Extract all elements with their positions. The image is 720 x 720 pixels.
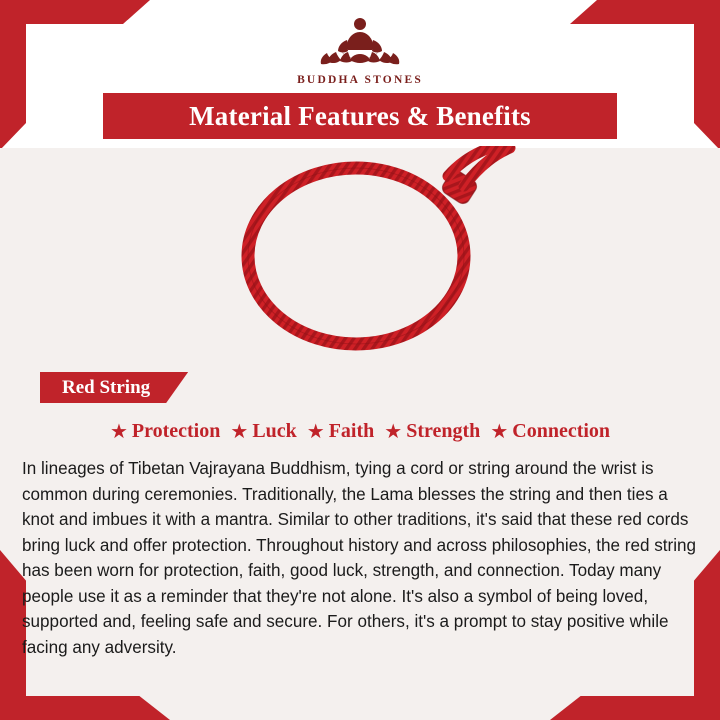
benefit-item-protection: ★ Protection (105, 420, 225, 443)
benefit-label: Faith (329, 420, 375, 443)
red-braided-string-bracelet-icon (196, 146, 526, 361)
product-image-area (0, 148, 720, 368)
benefit-item-strength: ★ Strength (379, 420, 485, 443)
benefit-item-faith: ★ Faith (302, 420, 380, 443)
star-icon: ★ (384, 422, 402, 442)
benefit-label: Strength (406, 420, 480, 443)
product-label-tab: Red String (40, 372, 188, 403)
product-label: Red String (62, 377, 150, 399)
infographic-page: BUDDHA STONES Material Features & Benefi… (0, 0, 720, 720)
page-title-banner: Material Features & Benefits (103, 93, 617, 139)
page-title: Material Features & Benefits (189, 101, 531, 132)
brand-logo: BUDDHA STONES (0, 14, 720, 86)
benefit-label: Protection (132, 420, 221, 443)
corner-decoration-bottom-right-bar (550, 696, 720, 720)
brand-name: BUDDHA STONES (0, 74, 720, 86)
lotus-meditation-icon (306, 14, 414, 72)
benefit-label: Luck (252, 420, 296, 443)
benefit-item-luck: ★ Luck (225, 420, 301, 443)
star-icon: ★ (307, 422, 325, 442)
description-text: In lineages of Tibetan Vajrayana Buddhis… (22, 456, 698, 660)
benefit-item-connection: ★ Connection (485, 420, 615, 443)
corner-decoration-bottom-left-bar (0, 696, 170, 720)
benefit-label: Connection (512, 420, 610, 443)
star-icon: ★ (230, 422, 248, 442)
star-icon: ★ (490, 422, 508, 442)
benefits-list: ★ Protection ★ Luck ★ Faith ★ Strength ★… (0, 420, 720, 443)
star-icon: ★ (110, 422, 128, 442)
